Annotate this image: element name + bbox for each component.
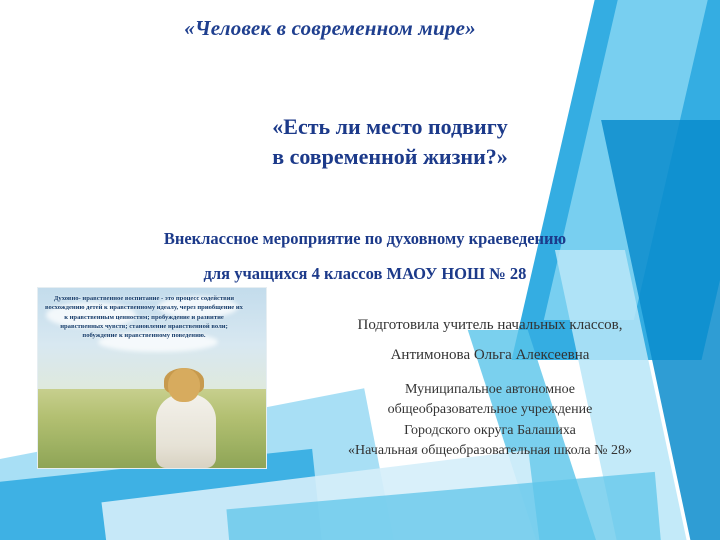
illustration-field [38, 389, 266, 468]
slide-main-title: «Есть ли место подвигу в современной жиз… [150, 112, 630, 172]
main-title-line-1: «Есть ли место подвигу [150, 112, 630, 142]
slide-content: «Человек в современном мире» «Есть ли ме… [0, 0, 720, 540]
illustration-caption: Духовно- нравственное воспитание - это п… [44, 294, 244, 341]
slide-subtitle: Внеклассное мероприятие по духовному кра… [60, 222, 670, 291]
illustration-girl-body [156, 394, 216, 468]
author-role-line: Подготовила учитель начальных классов, [290, 310, 690, 340]
author-block: Подготовила учитель начальных классов, А… [290, 310, 690, 370]
author-name-line: Антимонова Ольга Алексеевна [290, 340, 690, 370]
organization-line-3: Городского округа Балашиха [285, 421, 695, 441]
illustration-girl-head [168, 368, 200, 402]
subtitle-line-1: Внеклассное мероприятие по духовному кра… [60, 222, 670, 257]
slide-theme-title: «Человек в современном мире» [0, 16, 660, 41]
organization-line-2: общеобразовательное учреждение [285, 400, 695, 420]
subtitle-line-2: для учащихся 4 классов МАОУ НОШ № 28 [60, 257, 670, 292]
organization-line-4: «Начальная общеобразовательная школа № 2… [285, 441, 695, 461]
main-title-line-2: в современной жизни?» [150, 142, 630, 172]
organization-block: Муниципальное автономное общеобразовател… [285, 380, 695, 461]
slide-illustration: Духовно- нравственное воспитание - это п… [38, 288, 266, 468]
presentation-slide: «Человек в современном мире» «Есть ли ме… [0, 0, 720, 540]
organization-line-1: Муниципальное автономное [285, 380, 695, 400]
